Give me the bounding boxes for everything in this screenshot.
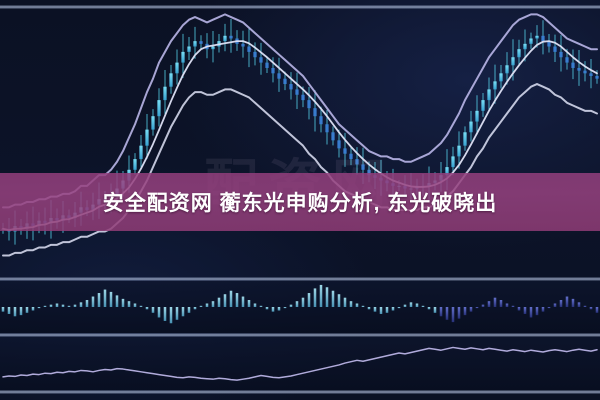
macd-bars <box>2 285 599 323</box>
panel-divider-bottom <box>0 390 600 394</box>
headline-banner: 安全配资网 蘅东光申购分析, 东光破晓出 <box>0 173 600 231</box>
panel-divider-top <box>0 5 600 9</box>
stock-chart-screenshot: 配资网 安全配资网 蘅东光申购分析, 东光破晓出 <box>0 0 600 400</box>
oscillator-line <box>3 347 597 380</box>
panel-divider-macd <box>0 277 600 281</box>
panel-divider-osc <box>0 333 600 337</box>
headline-text: 安全配资网 蘅东光申购分析, 东光破晓出 <box>103 187 498 217</box>
